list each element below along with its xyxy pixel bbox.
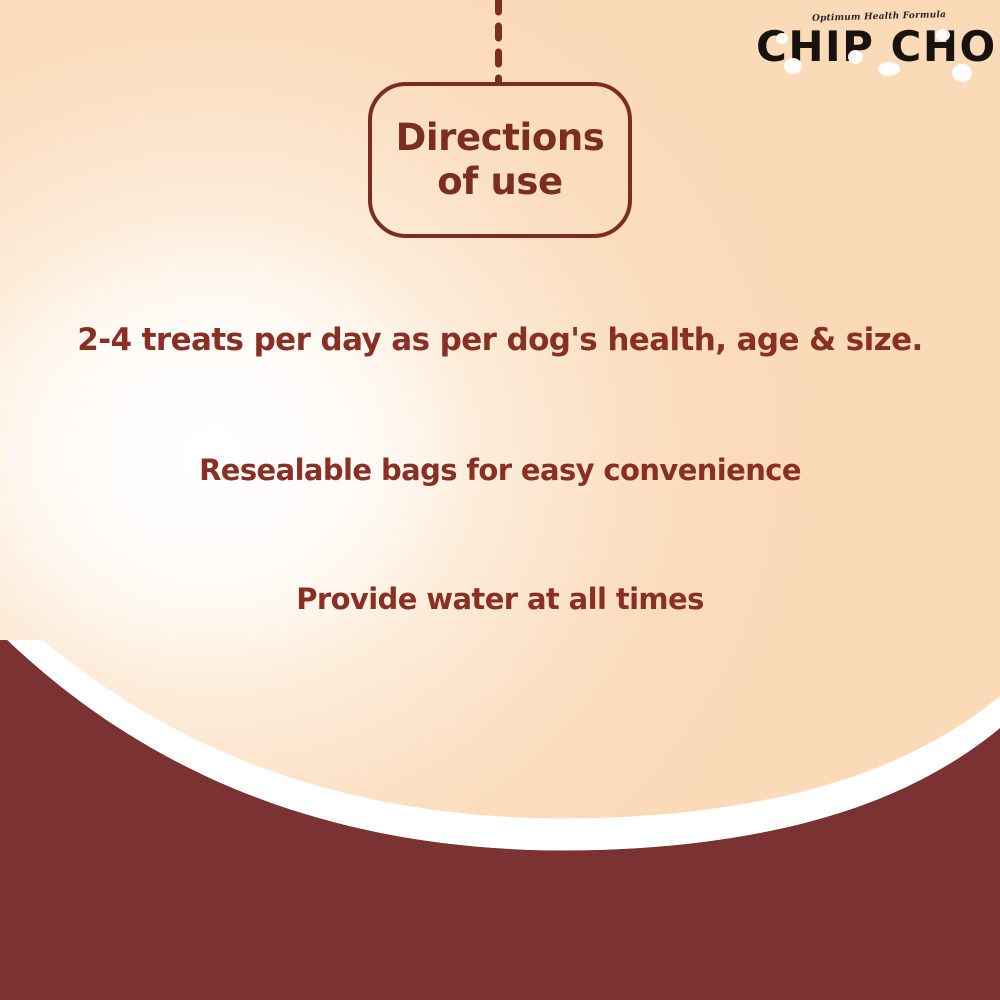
bottom-curved-footer xyxy=(0,640,1000,1000)
brand-logo: Optimum Health Formula CHIP CHOPs xyxy=(756,6,988,102)
paw-splash-icon xyxy=(952,64,972,82)
paw-splash-icon xyxy=(936,29,950,41)
instruction-line-1: 2-4 treats per day as per dog's health, … xyxy=(0,322,1000,358)
paw-splash-icon xyxy=(776,33,788,44)
instructions-list: 2-4 treats per day as per dog's health, … xyxy=(0,300,1000,616)
instruction-line-2: Resealable bags for easy convenience xyxy=(0,453,1000,487)
paw-splash-icon xyxy=(848,50,863,64)
dashed-connector-line xyxy=(494,0,503,86)
paw-splash-icon xyxy=(784,58,802,74)
instruction-line-3: Provide water at all times xyxy=(0,582,1000,616)
directions-heading-box: Directions of use xyxy=(368,82,632,238)
paw-splash-icon xyxy=(878,62,900,76)
page-title: Directions of use xyxy=(396,116,605,203)
poster-canvas: Directions of use 2-4 treats per day as … xyxy=(0,0,1000,1000)
